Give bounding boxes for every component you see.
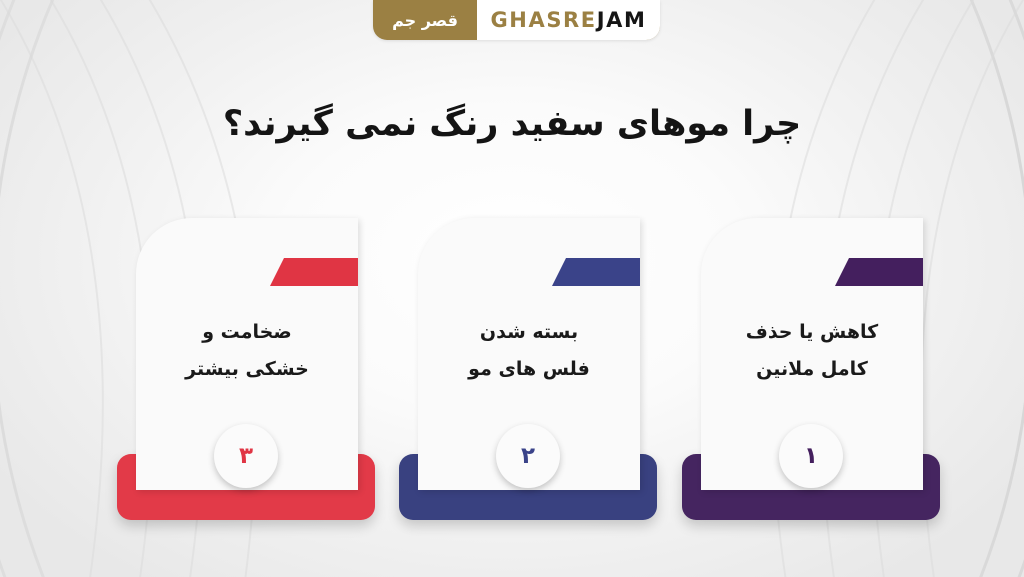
cards-container: کاهش یا حذف کامل ملانین ۱ بسته شدن فلس ه…: [0, 0, 1024, 577]
card-text-2: بسته شدن فلس های مو: [418, 314, 640, 388]
logo-latin-second: JAM: [597, 8, 647, 32]
card-text-line1-3: ضخامت و: [150, 314, 344, 351]
card-number-badge-3: ۳: [214, 424, 278, 488]
info-card-2[interactable]: بسته شدن فلس های مو ۲: [400, 218, 656, 520]
card-text-line2-3: خشکی بیشتر: [150, 351, 344, 388]
card-text-line1-1: کاهش یا حذف: [715, 314, 909, 351]
card-text-line2-2: فلس های مو: [432, 351, 626, 388]
card-accent-stripe-3: [270, 258, 358, 286]
card-text-line1-2: بسته شدن: [432, 314, 626, 351]
card-text-1: کاهش یا حذف کامل ملانین: [701, 314, 923, 388]
card-number-3: ۳: [239, 443, 253, 469]
logo-latin-first: GHASRE: [490, 8, 596, 32]
card-number-badge-1: ۱: [779, 424, 843, 488]
logo-persian-name: قصر جم: [373, 0, 477, 40]
info-card-1[interactable]: کاهش یا حذف کامل ملانین ۱: [683, 218, 939, 520]
card-text-3: ضخامت و خشکی بیشتر: [136, 314, 358, 388]
card-accent-stripe-1: [835, 258, 923, 286]
info-card-3[interactable]: ضخامت و خشکی بیشتر ۳: [118, 218, 374, 520]
card-text-line2-1: کامل ملانین: [715, 351, 909, 388]
card-number-1: ۱: [804, 443, 818, 469]
logo-latin-panel: GHASREJAM: [477, 0, 660, 40]
card-number-badge-2: ۲: [496, 424, 560, 488]
page-title: چرا موهای سفید رنگ نمی گیرند؟: [0, 104, 1024, 144]
brand-logo[interactable]: قصر جم GHASREJAM: [373, 0, 660, 40]
card-number-2: ۲: [521, 443, 535, 469]
card-accent-stripe-2: [552, 258, 640, 286]
